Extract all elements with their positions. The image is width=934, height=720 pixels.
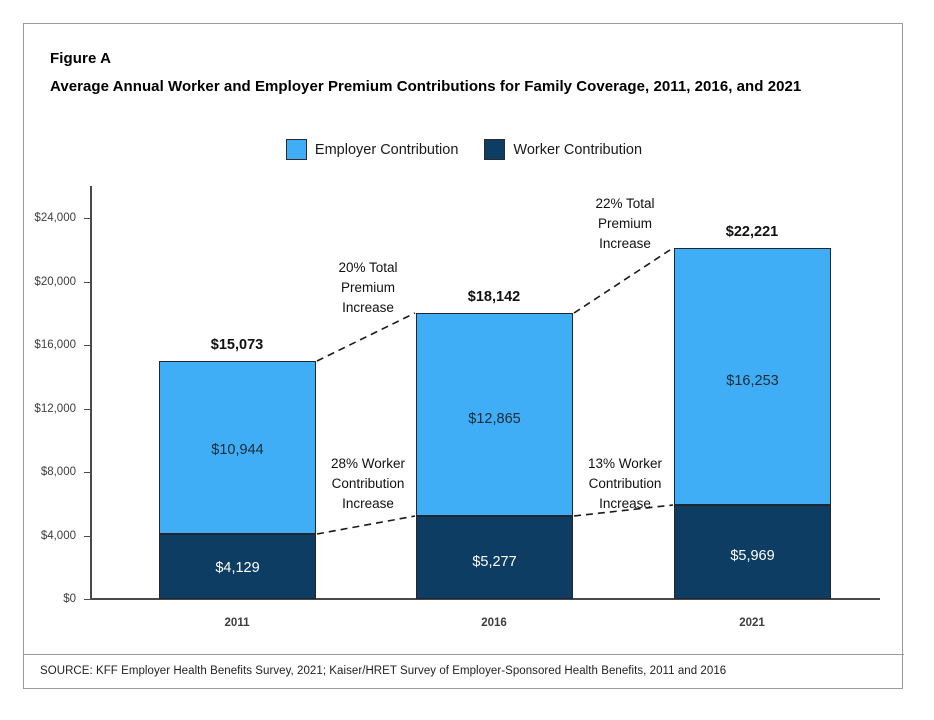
bar-label-2016-employer: $12,865	[417, 411, 572, 427]
y-tick-mark-5	[84, 282, 90, 283]
annotation-worker-2011-2016: 28% Worker Contribution Increase	[331, 454, 405, 514]
x-tick-label-2021: 2021	[739, 617, 765, 629]
bar-label-2021-employer: $16,253	[675, 373, 830, 389]
bar-total-2011: $15,073	[211, 337, 263, 353]
source-divider	[24, 654, 904, 655]
x-tick-label-2011: 2011	[225, 617, 250, 629]
annotation-total-2016-2021-line-3: Increase	[595, 234, 654, 254]
y-tick-mark-2	[84, 472, 90, 473]
bar-2016-employer[interactable]: $12,865	[416, 313, 573, 516]
annotation-total-2016-2021: 22% Total Premium Increase	[595, 194, 654, 254]
bar-label-2021-worker: $5,969	[675, 548, 830, 564]
figure-panel: Figure A Average Annual Worker and Emplo…	[23, 23, 903, 689]
annotation-total-2016-2021-line-1: 22% Total	[595, 194, 654, 214]
annotation-total-2011-2016-line-1: 20% Total	[338, 258, 397, 278]
y-tick-mark-3	[84, 409, 90, 410]
annotation-total-2011-2016-line-2: Premium	[338, 278, 397, 298]
annotation-total-2011-2016: 20% Total Premium Increase	[338, 258, 397, 318]
y-tick-mark-1	[84, 536, 90, 537]
annotation-worker-2011-2016-line-1: 28% Worker	[331, 454, 405, 474]
y-tick-label-3: $12,000	[34, 403, 76, 415]
bar-2016-worker[interactable]: $5,277	[416, 516, 573, 599]
y-tick-label-5: $20,000	[34, 276, 76, 288]
bar-2021-employer[interactable]: $16,253	[674, 248, 831, 505]
bar-label-2016-worker: $5,277	[417, 554, 572, 570]
connector-total-2011-2016	[317, 313, 415, 361]
bar-label-2011-worker: $4,129	[160, 560, 315, 576]
annotation-worker-2016-2021: 13% Worker Contribution Increase	[588, 454, 662, 514]
y-axis-line	[90, 186, 92, 599]
connector-total-2016-2021	[574, 248, 673, 313]
source-note: SOURCE: KFF Employer Health Benefits Sur…	[40, 665, 726, 677]
connector-worker-2011-2016	[317, 516, 415, 534]
annotation-worker-2011-2016-line-2: Contribution	[331, 474, 405, 494]
y-tick-mark-4	[84, 345, 90, 346]
bar-label-2011-employer: $10,944	[160, 442, 315, 458]
y-tick-label-2: $8,000	[41, 466, 76, 478]
annotation-total-2011-2016-line-3: Increase	[338, 298, 397, 318]
annotation-worker-2016-2021-line-3: Increase	[588, 494, 662, 514]
annotation-worker-2016-2021-line-1: 13% Worker	[588, 454, 662, 474]
annotation-worker-2016-2021-line-2: Contribution	[588, 474, 662, 494]
bar-2021-worker[interactable]: $5,969	[674, 505, 831, 599]
y-tick-label-1: $4,000	[41, 530, 76, 542]
y-tick-mark-6	[84, 218, 90, 219]
y-tick-mark-0	[84, 599, 90, 600]
bar-2011-employer[interactable]: $10,944	[159, 361, 316, 534]
y-tick-label-6: $24,000	[34, 212, 76, 224]
bar-2011-worker[interactable]: $4,129	[159, 534, 316, 599]
annotation-worker-2011-2016-line-3: Increase	[331, 494, 405, 514]
annotation-total-2016-2021-line-2: Premium	[595, 214, 654, 234]
bar-total-2021: $22,221	[726, 224, 778, 240]
y-tick-label-4: $16,000	[34, 339, 76, 351]
y-tick-label-0: $0	[63, 593, 76, 605]
x-tick-label-2016: 2016	[481, 617, 507, 629]
plot-area: $0 $4,000 $8,000 $12,000 $16,000 $20,000…	[24, 24, 904, 690]
bar-total-2016: $18,142	[468, 289, 520, 305]
